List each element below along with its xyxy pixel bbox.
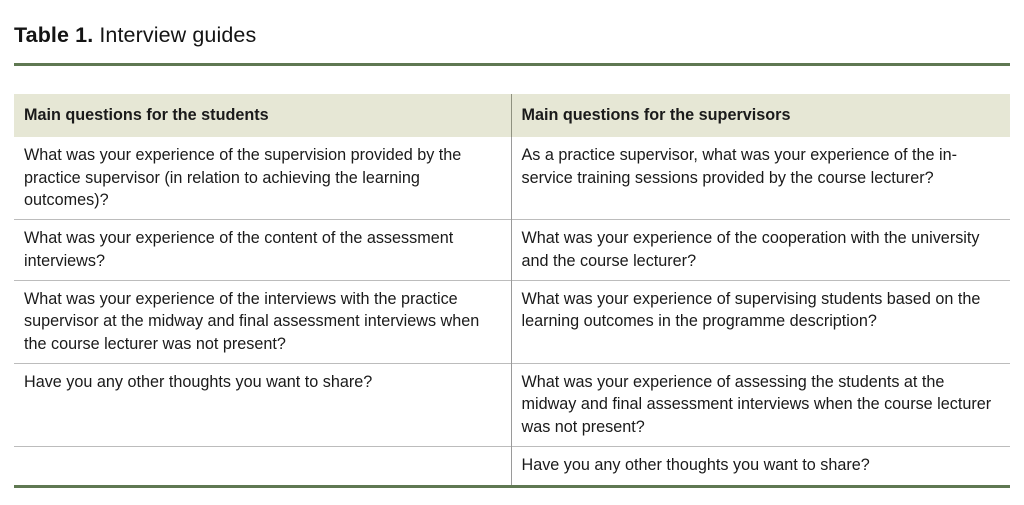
- table-row: What was your experience of the intervie…: [14, 281, 1010, 364]
- interview-guides-table: Main questions for the students Main que…: [14, 94, 1010, 485]
- cell-supervisors-question: What was your experience of supervising …: [511, 281, 1010, 364]
- table-head: Main questions for the students Main que…: [14, 94, 1010, 137]
- table-figure-page: Table 1. Interview guides Main questions…: [0, 0, 1024, 505]
- table-container: Main questions for the students Main que…: [14, 94, 1010, 485]
- cell-supervisors-question: As a practice supervisor, what was your …: [511, 137, 1010, 220]
- table-row: Have you any other thoughts you want to …: [14, 447, 1010, 485]
- table-caption: Table 1. Interview guides: [14, 22, 1010, 49]
- table-body: What was your experience of the supervis…: [14, 137, 1010, 484]
- cell-supervisors-question: What was your experience of the cooperat…: [511, 220, 1010, 281]
- cell-students-question: What was your experience of the intervie…: [14, 281, 511, 364]
- table-row: What was your experience of the content …: [14, 220, 1010, 281]
- column-header-supervisors: Main questions for the supervisors: [511, 94, 1010, 137]
- cell-students-question: Have you any other thoughts you want to …: [14, 364, 511, 447]
- column-header-students: Main questions for the students: [14, 94, 511, 137]
- table-row: What was your experience of the supervis…: [14, 137, 1010, 220]
- bottom-green-rule: [14, 485, 1010, 488]
- table-header-row: Main questions for the students Main que…: [14, 94, 1010, 137]
- caption-container: Table 1. Interview guides: [0, 0, 1024, 49]
- cell-students-question: What was your experience of the supervis…: [14, 137, 511, 220]
- cell-students-question-empty: [14, 447, 511, 485]
- table-caption-label: Table 1.: [14, 23, 93, 47]
- cell-students-question: What was your experience of the content …: [14, 220, 511, 281]
- table-row: Have you any other thoughts you want to …: [14, 364, 1010, 447]
- cell-supervisors-question: What was your experience of assessing th…: [511, 364, 1010, 447]
- cell-supervisors-question: Have you any other thoughts you want to …: [511, 447, 1010, 485]
- top-green-rule: [14, 63, 1010, 66]
- table-caption-text: Interview guides: [93, 23, 256, 47]
